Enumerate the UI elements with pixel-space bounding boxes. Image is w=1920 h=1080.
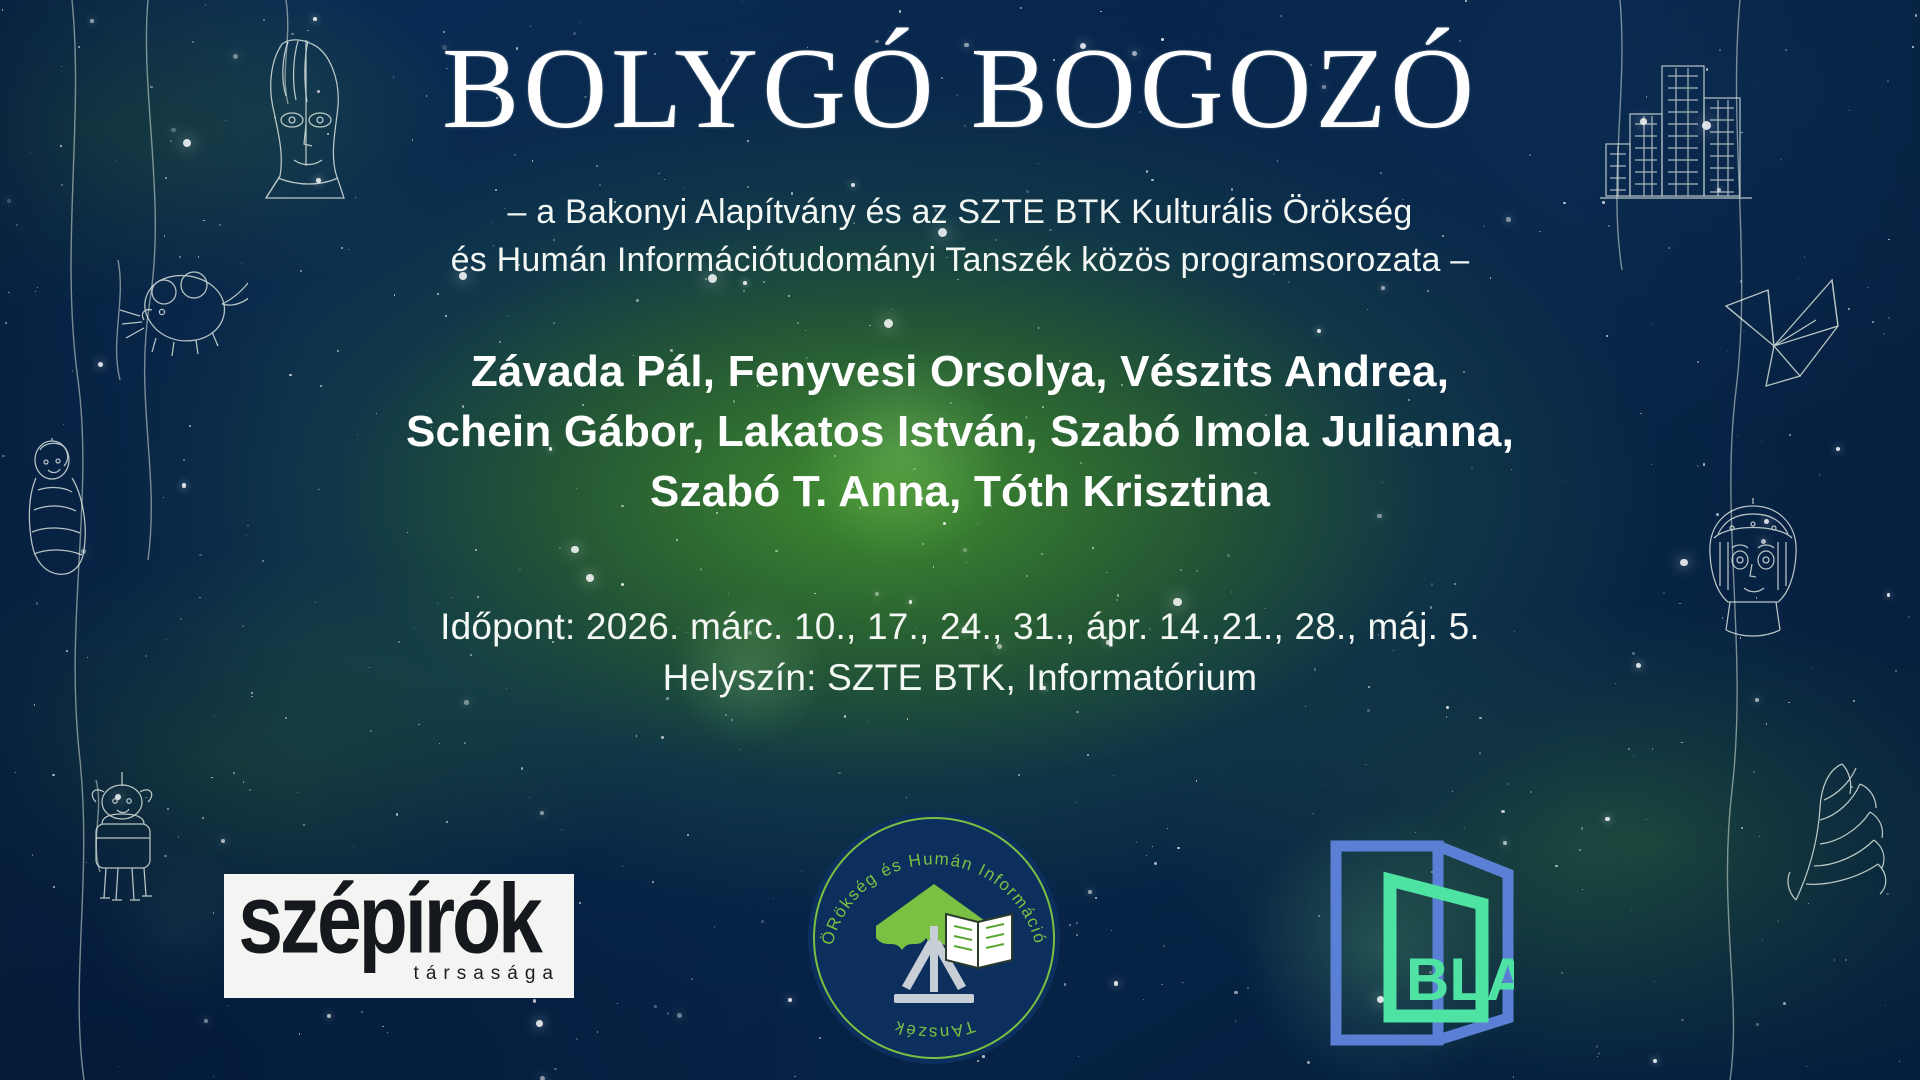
poster-subtitle: – a Bakonyi Alapítvány és az SZTE BTK Ku… — [0, 188, 1920, 285]
logo-szepirok-tarsasaga: szépírók társasága — [224, 874, 574, 998]
subtitle-line-2: és Humán Információtudományi Tanszék köz… — [0, 236, 1920, 284]
book-icon — [946, 914, 1012, 968]
poster-canvas: BOLYGÓ BOGOZÓ – a Bakonyi Alapítvány és … — [0, 0, 1920, 1080]
event-dates: Időpont: 2026. márc. 10., 17., 24., 31.,… — [0, 601, 1920, 652]
page-title: BOLYGÓ BOGOZÓ — [0, 28, 1920, 151]
logo-row: szépírók társasága Kulturális ÖRökség és… — [0, 800, 1920, 1080]
names-line-2: Schein Gábor, Lakatos István, Szabó Imol… — [0, 402, 1920, 462]
szepirok-wordmark: szépírók — [238, 878, 574, 963]
logo-bla: BLA — [1330, 840, 1514, 1046]
names-line-3: Szabó T. Anna, Tóth Krisztina — [0, 462, 1920, 522]
event-venue: Helyszín: SZTE BTK, Informatórium — [0, 652, 1920, 703]
event-details: Időpont: 2026. márc. 10., 17., 24., 31.,… — [0, 601, 1920, 703]
logo-szte-kulturalis-orokseg: Kulturális ÖRökség és Humán Információtu… — [806, 810, 1062, 1066]
bla-letters: BLA — [1406, 946, 1514, 1013]
names-line-1: Závada Pál, Fenyvesi Orsolya, Vészits An… — [0, 342, 1920, 402]
subtitle-line-1: – a Bakonyi Alapítvány és az SZTE BTK Ku… — [0, 188, 1920, 236]
participant-names: Závada Pál, Fenyvesi Orsolya, Vészits An… — [0, 342, 1920, 521]
